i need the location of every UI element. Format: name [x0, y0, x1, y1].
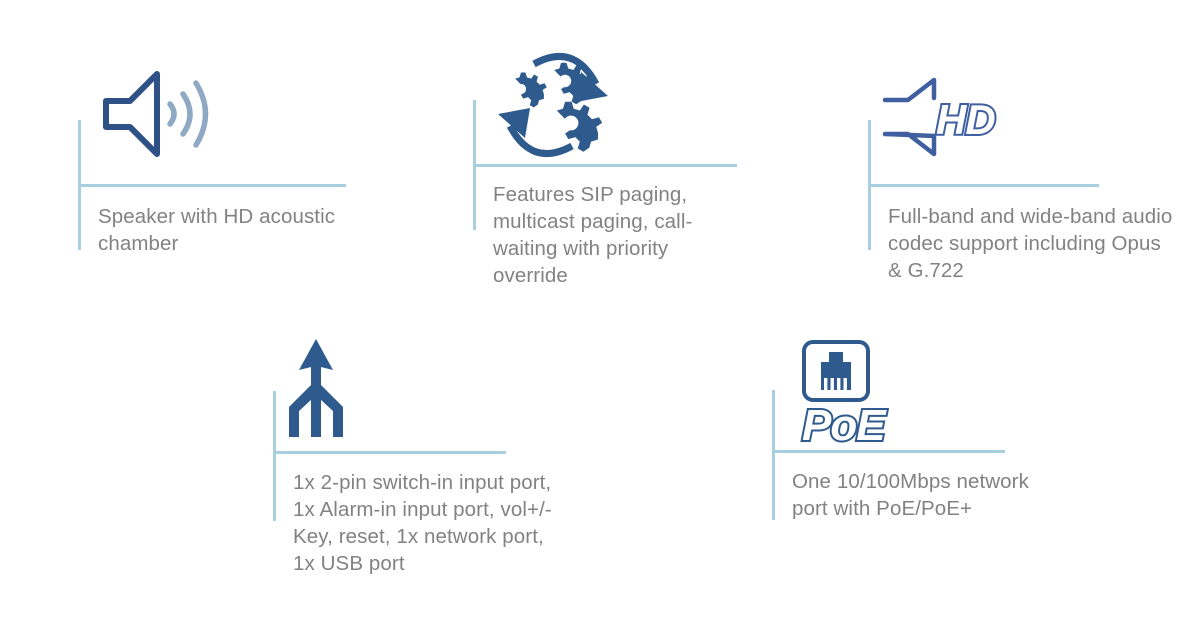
poe-rj45-icon: PoE — [800, 340, 896, 452]
feature-caption: Speaker with HD acoustic chamber — [98, 203, 398, 257]
speaker-hd-icon: HD — [880, 76, 995, 158]
feature-caption: Features SIP paging, multicast paging, c… — [493, 181, 745, 289]
gears-cycle-icon — [488, 50, 618, 160]
feature-caption: 1x 2-pin switch-in input port, 1x Alarm-… — [293, 469, 559, 577]
speaker-hd-label: HD — [936, 96, 995, 143]
feature-card-poe-network-port: PoE One 10/100Mbps network port with PoE… — [700, 300, 1100, 630]
feature-card-sip-paging: Features SIP paging, multicast paging, c… — [400, 0, 800, 320]
divider-vertical — [772, 390, 775, 520]
feature-card-speaker-acoustic-chamber: Speaker with HD acoustic chamber — [0, 0, 400, 300]
feature-caption: Full-band and wide-band audio codec supp… — [888, 203, 1178, 284]
divider-horizontal — [78, 184, 346, 187]
divider-vertical — [273, 391, 276, 521]
feature-card-io-ports: 1x 2-pin switch-in input port, 1x Alarm-… — [200, 300, 600, 630]
speaker-sound-waves-icon — [100, 68, 215, 160]
feature-highlights-board: Speaker with HD acoustic chamber — [0, 0, 1200, 630]
merge-arrow-inputs-icon — [282, 337, 350, 437]
divider-horizontal — [868, 184, 1099, 187]
poe-label: PoE — [802, 401, 887, 450]
divider-horizontal — [273, 451, 506, 454]
feature-caption: One 10/100Mbps network port with PoE/PoE… — [792, 468, 1042, 522]
divider-horizontal — [473, 164, 737, 167]
feature-card-audio-codec-support: HD Full-band and wide-band audio codec s… — [800, 0, 1200, 300]
